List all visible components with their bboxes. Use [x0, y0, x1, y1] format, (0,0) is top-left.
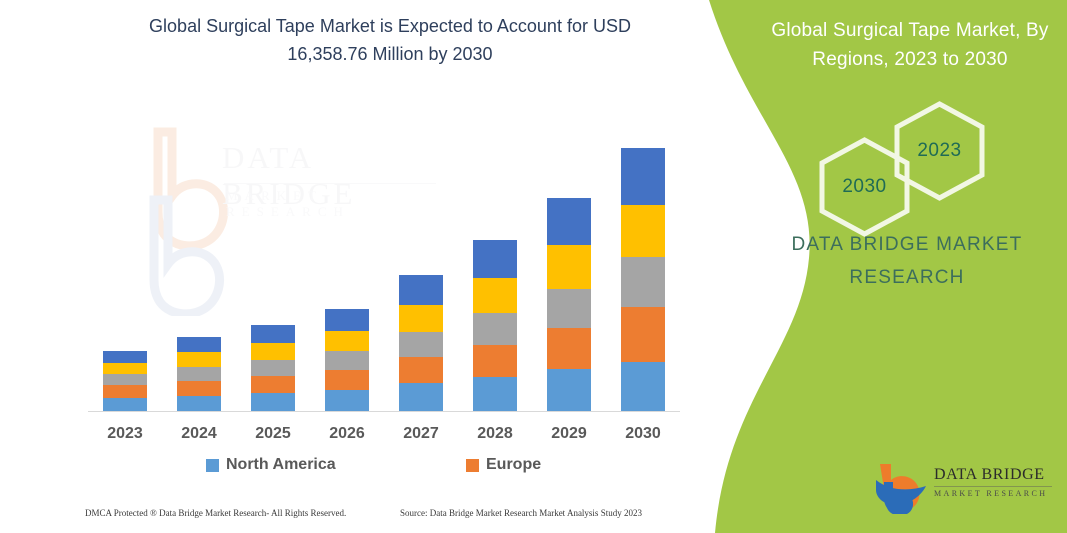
logo-line-2: MARKET RESEARCH	[934, 489, 1054, 499]
bar-segment-2028-north-america	[473, 377, 517, 412]
bar-segment-2029-north-america	[547, 369, 591, 412]
x-tick-label-2027: 2027	[385, 425, 457, 443]
bar-segment-2026-series-5	[325, 309, 369, 331]
bar-segment-2025-series-5	[251, 325, 295, 343]
bar-segment-2029-europe	[547, 328, 591, 369]
bar-2027[interactable]	[399, 275, 443, 412]
bar-2028[interactable]	[473, 240, 517, 412]
bar-segment-2024-series-4	[177, 352, 221, 367]
hexagon-2030: 2030	[817, 135, 912, 239]
legend-item-north-america[interactable]: North America	[206, 456, 336, 474]
legend-label-europe: Europe	[486, 456, 541, 474]
legend-swatch-europe	[466, 459, 479, 472]
bar-segment-2028-europe	[473, 345, 517, 377]
bar-segment-2025-series-4	[251, 343, 295, 360]
bar-segment-2030-north-america	[621, 362, 665, 412]
footer-copyright: DMCA Protected ® Data Bridge Market Rese…	[85, 508, 346, 518]
x-tick-label-2030: 2030	[607, 425, 679, 443]
bar-segment-2023-europe	[103, 385, 147, 398]
legend-swatch-north-america	[206, 459, 219, 472]
x-tick-label-2025: 2025	[237, 425, 309, 443]
bar-segment-2027-series-5	[399, 275, 443, 305]
bar-segment-2024-north-america	[177, 396, 221, 412]
panel-heading: Global Surgical Tape Market, By Regions,…	[765, 16, 1055, 74]
bar-segment-2030-series-5	[621, 148, 665, 205]
bar-chart-plot-area	[88, 110, 680, 412]
green-side-panel: Global Surgical Tape Market, By Regions,…	[687, 0, 1067, 533]
bar-segment-2026-north-america	[325, 390, 369, 412]
x-axis-line	[88, 411, 680, 412]
bar-segment-2027-series-4	[399, 305, 443, 332]
bar-segment-2030-series-4	[621, 205, 665, 257]
x-tick-label-2026: 2026	[311, 425, 383, 443]
x-axis-tick-labels: 20232024202520262027202820292030	[88, 425, 680, 449]
bar-segment-2028-series-4	[473, 278, 517, 313]
panel-brand-line2: RESEARCH	[747, 261, 1067, 294]
bar-segment-2030-europe	[621, 307, 665, 362]
hexagon-2023-label: 2023	[917, 140, 961, 162]
x-tick-label-2023: 2023	[89, 425, 161, 443]
bar-segment-2029-series-5	[547, 198, 591, 245]
bar-segment-2025-europe	[251, 376, 295, 393]
bar-segment-2028-series-3	[473, 313, 517, 345]
bar-segment-2030-series-3	[621, 257, 665, 307]
bar-segment-2029-series-4	[547, 245, 591, 289]
data-bridge-logo-icon	[872, 460, 930, 514]
bar-segment-2023-series-4	[103, 363, 147, 374]
bar-2025[interactable]	[251, 325, 295, 412]
logo-line-1: DATA BRIDGE	[934, 466, 1054, 484]
legend-item-europe[interactable]: Europe	[466, 456, 541, 474]
bar-segment-2024-europe	[177, 381, 221, 396]
footer-source: Source: Data Bridge Market Research Mark…	[400, 508, 642, 518]
bar-segment-2023-series-5	[103, 351, 147, 363]
legend-label-north-america: North America	[226, 456, 336, 474]
bar-2024[interactable]	[177, 337, 221, 412]
hexagon-2030-label: 2030	[842, 176, 886, 198]
bar-segment-2027-north-america	[399, 383, 443, 412]
bar-segment-2025-series-3	[251, 360, 295, 376]
logo-divider	[934, 486, 1052, 487]
bar-segment-2024-series-5	[177, 337, 221, 352]
bar-2023[interactable]	[103, 351, 147, 412]
footer: DMCA Protected ® Data Bridge Market Rese…	[0, 508, 700, 530]
bar-segment-2023-north-america	[103, 398, 147, 412]
bar-2026[interactable]	[325, 309, 369, 412]
panel-brand: DATA BRIDGE MARKET RESEARCH	[747, 228, 1067, 294]
bar-segment-2027-series-3	[399, 332, 443, 357]
page-title: Global Surgical Tape Market is Expected …	[110, 12, 670, 68]
bar-segment-2024-series-3	[177, 367, 221, 381]
logo-wordmark: DATA BRIDGE MARKET RESEARCH	[934, 466, 1054, 499]
bar-segment-2029-series-3	[547, 289, 591, 328]
bar-segment-2023-series-3	[103, 374, 147, 385]
x-tick-label-2024: 2024	[163, 425, 235, 443]
brand-logo: DATA BRIDGE MARKET RESEARCH	[872, 456, 1052, 518]
bar-segment-2025-north-america	[251, 393, 295, 412]
bar-2030[interactable]	[621, 148, 665, 412]
bar-segment-2027-europe	[399, 357, 443, 383]
x-tick-label-2028: 2028	[459, 425, 531, 443]
bar-segment-2026-europe	[325, 370, 369, 390]
x-tick-label-2029: 2029	[533, 425, 605, 443]
infographic-page: Global Surgical Tape Market is Expected …	[0, 0, 1067, 533]
bar-segment-2028-series-5	[473, 240, 517, 278]
bar-segment-2026-series-4	[325, 331, 369, 351]
chart-legend: North America Europe	[88, 456, 680, 480]
bar-segment-2026-series-3	[325, 351, 369, 370]
panel-brand-line1: DATA BRIDGE MARKET	[747, 228, 1067, 261]
bar-2029[interactable]	[547, 198, 591, 412]
